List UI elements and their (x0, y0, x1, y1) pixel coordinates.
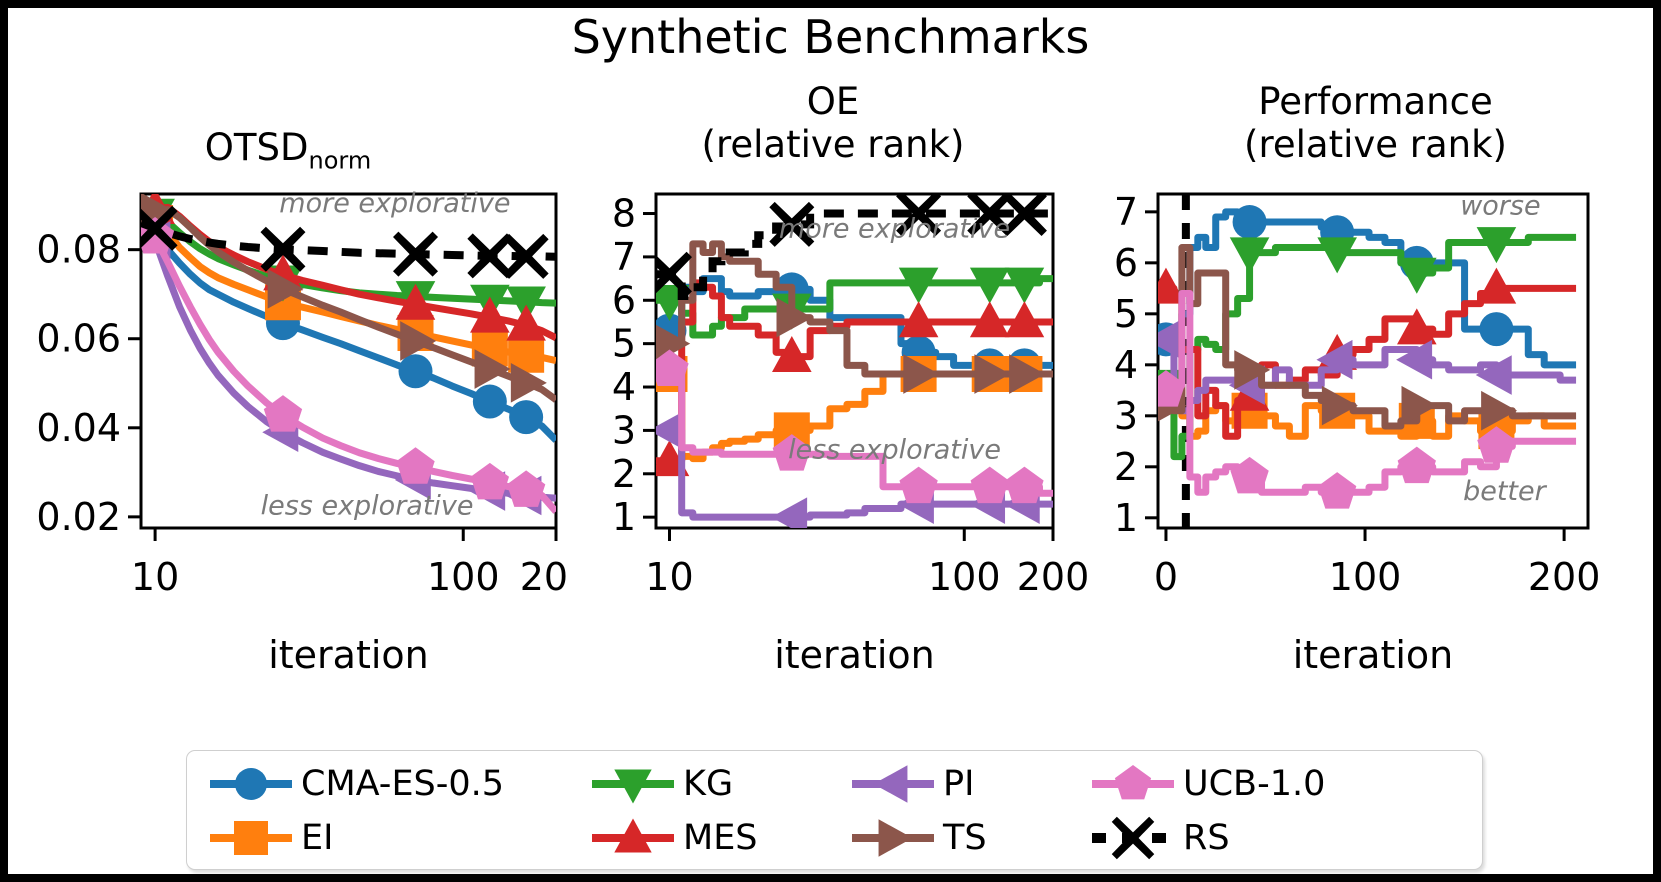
panel-oe: OE (relative rank) 1010020012345678more … (568, 8, 1098, 874)
panel-oe-title: OE (relative rank) (568, 80, 1098, 166)
x-ticklabel: 200 (1017, 555, 1090, 599)
legend-item-ucb[interactable]: UCB-1.0 (1087, 759, 1325, 809)
legend-swatch-ts (847, 815, 939, 861)
panel-performance-title-sub: (relative rank) (1098, 123, 1653, 166)
panel-otsd: OTSDnorm 101002000.020.040.060.08more ex… (8, 8, 568, 874)
legend-item-rs[interactable]: RS (1087, 813, 1230, 863)
x-ticklabel: 200 (520, 555, 568, 599)
marker-ucb (1398, 447, 1436, 483)
marker-ucb (899, 467, 937, 503)
legend-swatch-cmaes (205, 761, 297, 807)
plot-annotation: less explorative (788, 435, 1001, 466)
legend-label-cmaes: CMA-ES-0.5 (297, 764, 504, 804)
legend-item-ei[interactable]: EI (205, 813, 333, 863)
y-ticklabel: 2 (612, 452, 636, 496)
marker-rs (504, 234, 549, 279)
y-ticklabel: 1 (612, 495, 636, 539)
legend-label-ei: EI (297, 818, 333, 858)
legend-swatch-mes (587, 815, 679, 861)
legend-marker-ucb (1115, 765, 1151, 799)
figure-canvas: Synthetic Benchmarks OTSDnorm 101002000.… (8, 8, 1653, 874)
legend-label-pi: PI (939, 764, 974, 804)
legend-marker-cmaes (235, 768, 267, 800)
legend-marker-pi (873, 765, 907, 802)
y-ticklabel: 6 (612, 278, 636, 322)
legend-item-kg[interactable]: KG (587, 759, 733, 809)
plot-annotation: more explorative (279, 188, 510, 219)
panel-otsd-title-main: OTSD (205, 126, 309, 169)
y-ticklabel: 0.06 (36, 317, 121, 361)
x-ticklabel: 100 (1329, 555, 1402, 599)
y-ticklabel: 0.04 (36, 406, 121, 450)
marker-ucb (471, 463, 509, 499)
x-ticklabel: 0 (1154, 555, 1178, 599)
x-ticklabel: 10 (131, 555, 179, 599)
x-ticklabel: 100 (427, 555, 500, 599)
y-ticklabel: 4 (1114, 343, 1138, 387)
y-ticklabel: 1 (1114, 496, 1138, 540)
y-ticklabel: 5 (1114, 292, 1138, 336)
legend-box: CMA-ES-0.5KGPIUCB-1.0EIMESTSRS (186, 750, 1483, 870)
x-axis-label: iteration (774, 633, 935, 677)
marker-ucb (507, 470, 545, 506)
y-ticklabel: 0.08 (36, 228, 121, 272)
legend-marker-ei (234, 821, 268, 855)
panel-oe-title-main: OE (568, 80, 1098, 123)
plot-annotation: worse (1460, 190, 1540, 221)
marker-pi (1396, 340, 1432, 380)
legend-label-kg: KG (679, 764, 733, 804)
legend-swatch-ucb (1087, 761, 1179, 807)
legend-swatch-ei (205, 815, 297, 861)
legend-item-cmaes[interactable]: CMA-ES-0.5 (205, 759, 504, 809)
panel-performance-title-main: Performance (1098, 80, 1653, 123)
y-ticklabel: 6 (1114, 241, 1138, 285)
panel-performance: Performance (relative rank) 010020012345… (1098, 8, 1653, 874)
plot-annotation: better (1463, 476, 1548, 507)
legend-item-pi[interactable]: PI (847, 759, 974, 809)
marker-cmaes (1233, 205, 1267, 239)
y-ticklabel: 3 (1114, 394, 1138, 438)
marker-ucb (1318, 472, 1356, 508)
marker-pi (771, 497, 807, 537)
legend-label-rs: RS (1179, 818, 1230, 858)
x-axis-label: iteration (1293, 633, 1454, 677)
legend-swatch-rs (1087, 815, 1179, 861)
marker-cmaes (509, 400, 543, 434)
legend-label-ts: TS (939, 818, 987, 858)
marker-ucb (1005, 467, 1043, 503)
marker-ucb (1230, 457, 1268, 493)
series-layer (133, 188, 556, 515)
legend-swatch-pi (847, 761, 939, 807)
panel-performance-title: Performance (relative rank) (1098, 80, 1653, 166)
x-ticklabel: 100 (928, 555, 1001, 599)
y-ticklabel: 3 (612, 408, 636, 452)
y-ticklabel: 0.02 (36, 495, 121, 539)
panel-otsd-title-sub: norm (308, 146, 371, 174)
legend-label-ucb: UCB-1.0 (1179, 764, 1325, 804)
legend-item-ts[interactable]: TS (847, 813, 987, 863)
y-ticklabel: 4 (612, 365, 636, 409)
y-ticklabel: 7 (1114, 190, 1138, 234)
x-axis-label: iteration (268, 633, 429, 677)
legend-swatch-kg (587, 761, 679, 807)
marker-cmaes (1479, 312, 1513, 346)
legend-marker-ts (879, 819, 913, 856)
marker-ucb (264, 395, 302, 431)
legend-label-mes: MES (679, 818, 758, 858)
plot-annotation: more explorative (779, 213, 1010, 244)
panel-oe-title-sub: (relative rank) (568, 123, 1098, 166)
legend-marker-rs (1112, 817, 1155, 860)
marker-cmaes (473, 385, 507, 419)
plot-annotation: less explorative (261, 491, 474, 522)
marker-ucb (971, 467, 1009, 503)
y-ticklabel: 8 (612, 192, 636, 236)
marker-ucb (396, 447, 434, 483)
marker-rs (393, 232, 438, 277)
x-ticklabel: 200 (1528, 555, 1601, 599)
y-ticklabel: 5 (612, 322, 636, 366)
legend-item-mes[interactable]: MES (587, 813, 758, 863)
x-ticklabel: 10 (645, 555, 693, 599)
marker-pi (1476, 355, 1512, 395)
y-ticklabel: 2 (1114, 445, 1138, 489)
y-ticklabel: 7 (612, 235, 636, 279)
marker-cmaes (399, 354, 433, 388)
